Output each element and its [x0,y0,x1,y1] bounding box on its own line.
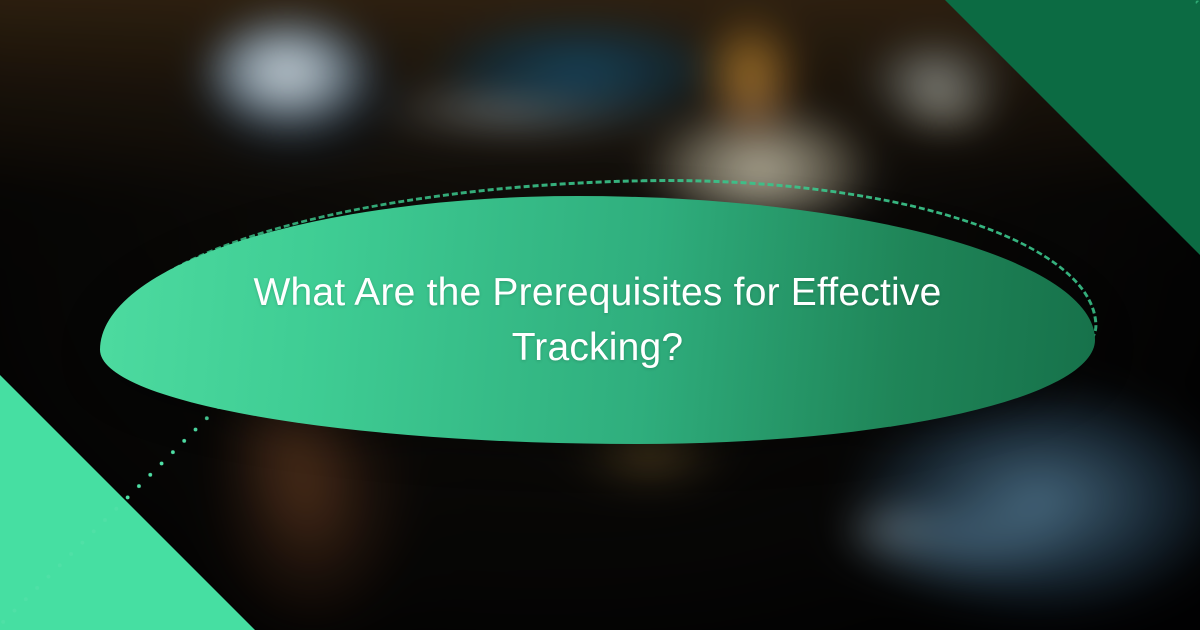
social-card-canvas: What Are the Prerequisites for Effective… [0,0,1200,630]
page-title: What Are the Prerequisites for Effective… [238,265,958,376]
